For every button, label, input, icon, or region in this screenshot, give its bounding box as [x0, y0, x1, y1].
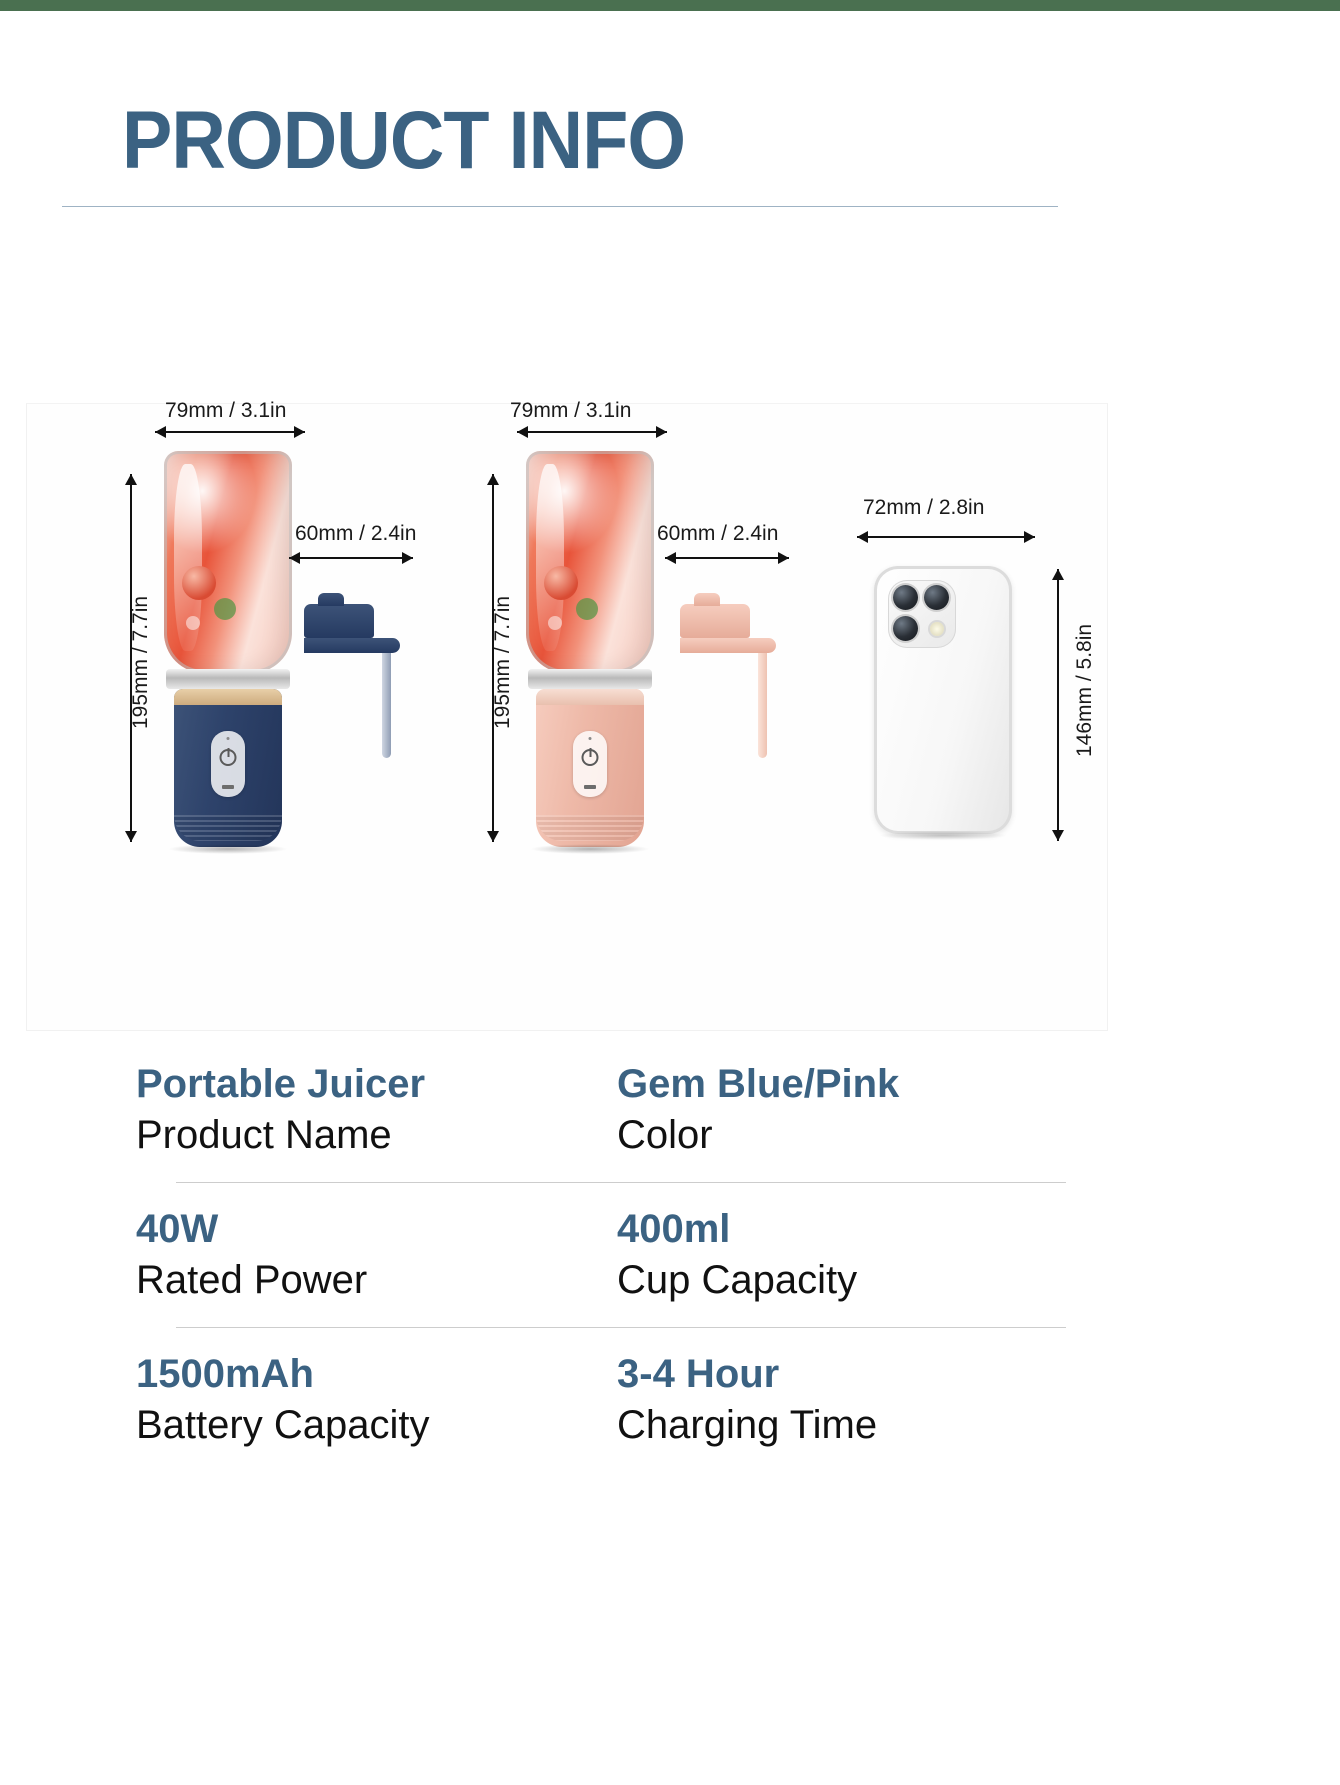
spec-cell-cup-capacity: 400ml Cup Capacity [617, 1205, 1026, 1307]
blue-juicer-height-arrow [125, 474, 137, 842]
juicer-battery-bar-pink [584, 785, 596, 789]
spec-value: 3-4 Hour [617, 1350, 1026, 1398]
camera-lens-icon [924, 585, 949, 610]
lid-cap-blue [304, 604, 374, 638]
dimensions-diagram: 79mm / 3.1in 195mm / 7.7in 60mm / 2.4in [26, 403, 1108, 1031]
pink-juicer-illustration [526, 451, 654, 851]
phone-height-label: 146mm / 5.8in [1073, 624, 1097, 757]
spec-cell-charging-time: 3-4 Hour Charging Time [617, 1350, 1026, 1452]
lid-knob-pink [694, 593, 720, 606]
spec-key: Color [617, 1108, 1026, 1162]
juicer-indicator-dot-pink [589, 737, 592, 740]
camera-lens-icon [893, 616, 918, 641]
juicer-base-pink [536, 689, 644, 847]
juicer-control-panel-blue [211, 731, 245, 797]
spec-key: Battery Capacity [136, 1398, 617, 1452]
lid-spout-pink [680, 638, 776, 653]
pink-lid-width-label: 60mm / 2.4in [657, 522, 778, 546]
spec-divider [176, 1327, 1066, 1328]
spec-cell-battery-capacity: 1500mAh Battery Capacity [136, 1350, 617, 1452]
spec-key: Charging Time [617, 1398, 1026, 1452]
spec-value: Portable Juicer [136, 1060, 617, 1108]
blue-lid-illustration [304, 604, 404, 774]
spec-row: 1500mAh Battery Capacity 3-4 Hour Chargi… [136, 1350, 1026, 1452]
blue-juicer-illustration [164, 451, 292, 851]
juicer-collar-pink [528, 669, 652, 689]
pink-lid-width-arrow [665, 552, 789, 564]
pink-juicer-width-arrow [517, 426, 667, 438]
pink-lid-illustration [680, 604, 780, 774]
juicer-battery-bar-blue [222, 785, 234, 789]
lid-straw-blue [382, 653, 391, 758]
top-accent-bar [0, 0, 1340, 11]
juicer-collar-blue [166, 669, 290, 689]
juicer-grip-ribs-blue [174, 815, 282, 841]
lid-straw-pink [758, 653, 767, 758]
phone-height-arrow [1052, 569, 1064, 841]
juicer-gold-ring-blue [174, 689, 282, 705]
title-divider [62, 206, 1058, 207]
spec-row: 40W Rated Power 400ml Cup Capacity [136, 1205, 1026, 1307]
lid-cap-pink [680, 604, 750, 638]
lid-knob-blue [318, 593, 344, 606]
juicer-base-blue [174, 689, 282, 847]
spec-row: Portable Juicer Product Name Gem Blue/Pi… [136, 1060, 1026, 1162]
juicer-cup-pink [526, 451, 654, 673]
camera-lens-icon [893, 585, 918, 610]
phone-camera-module [888, 580, 956, 648]
spec-key: Cup Capacity [617, 1253, 1026, 1307]
juicer-control-panel-pink [573, 731, 607, 797]
juicer-indicator-dot-blue [227, 737, 230, 740]
power-icon [582, 749, 599, 766]
spec-key: Rated Power [136, 1253, 617, 1307]
spec-value: 1500mAh [136, 1350, 617, 1398]
blue-juicer-width-label: 79mm / 3.1in [165, 399, 286, 423]
product-info-page: PRODUCT INFO 79mm / 3.1in 195mm / 7.7in [0, 0, 1340, 1785]
juicer-grip-ribs-pink [536, 815, 644, 841]
blue-juicer-width-arrow [155, 426, 305, 438]
pink-juicer-width-label: 79mm / 3.1in [510, 399, 631, 423]
phone-shadow [878, 831, 1008, 840]
spec-key: Product Name [136, 1108, 617, 1162]
spec-value: 400ml [617, 1205, 1026, 1253]
blue-lid-width-arrow [289, 552, 413, 564]
power-icon [220, 749, 237, 766]
blue-lid-width-label: 60mm / 2.4in [295, 522, 416, 546]
phone-width-label: 72mm / 2.8in [863, 496, 984, 520]
pink-juicer-height-arrow [487, 474, 499, 842]
juicer-cup-blue [164, 451, 292, 673]
spec-cell-color: Gem Blue/Pink Color [617, 1060, 1026, 1162]
juicer-gold-ring-pink [536, 689, 644, 705]
juicer-shadow-pink [530, 844, 650, 854]
spec-value: 40W [136, 1205, 617, 1253]
spec-table: Portable Juicer Product Name Gem Blue/Pi… [136, 1060, 1026, 1452]
juicer-shadow-blue [168, 844, 288, 854]
spec-cell-product-name: Portable Juicer Product Name [136, 1060, 617, 1162]
page-title: PRODUCT INFO [122, 95, 1243, 187]
spec-divider [176, 1182, 1066, 1183]
phone-illustration [874, 566, 1012, 834]
spec-value: Gem Blue/Pink [617, 1060, 1026, 1108]
lid-spout-blue [304, 638, 400, 653]
page-header: PRODUCT INFO [0, 95, 1340, 187]
spec-cell-rated-power: 40W Rated Power [136, 1205, 617, 1307]
phone-width-arrow [857, 531, 1035, 543]
camera-flash-icon [930, 622, 944, 636]
